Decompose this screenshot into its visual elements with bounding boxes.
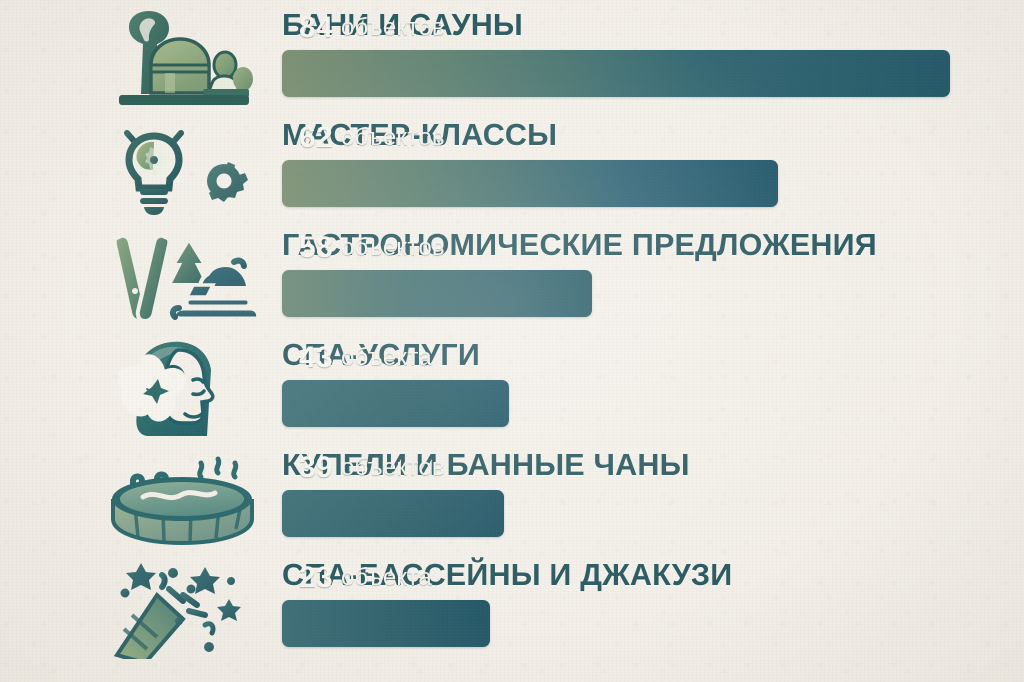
bar-value: 58 bbox=[299, 231, 333, 265]
bar-label: 84 объектов bbox=[299, 4, 445, 51]
infographic-chart: БАНИ И САУНЫ 84 объектов bbox=[0, 0, 1024, 682]
value-bar bbox=[282, 600, 490, 647]
value-bar bbox=[282, 160, 778, 207]
bar-label: 58 объектов bbox=[299, 224, 445, 271]
bar-unit: объекта bbox=[341, 564, 432, 592]
lightbulb-gear-icon bbox=[96, 116, 268, 222]
value-bar bbox=[282, 270, 592, 317]
bar-label: 62 объектов bbox=[299, 114, 445, 161]
bar-unit: объектов bbox=[341, 234, 445, 262]
party-popper-icon bbox=[96, 556, 268, 662]
bar-unit: объектов bbox=[341, 454, 445, 482]
chart-row: КУПЕЛИ И БАННЫЕ ЧАНЫ 39 объектов bbox=[0, 444, 1024, 554]
bar-label: 23 объекта bbox=[299, 554, 432, 601]
value-bar bbox=[282, 50, 950, 97]
sauna-hut-icon bbox=[96, 6, 268, 112]
hot-tub-icon bbox=[96, 446, 268, 552]
bar-value: 62 bbox=[299, 121, 333, 155]
chart-row: МАСТЕР-КЛАССЫ 62 объектов bbox=[0, 114, 1024, 224]
bar-value: 84 bbox=[299, 11, 333, 45]
bar-value: 39 bbox=[299, 451, 333, 485]
bar-label: 43 объекта bbox=[299, 334, 432, 381]
bar-value: 43 bbox=[299, 341, 333, 375]
value-bar bbox=[282, 380, 509, 427]
spa-face-flower-icon bbox=[96, 336, 268, 442]
chart-row: СПА-БАССЕЙНЫ И ДЖАКУЗИ 23 объекта bbox=[0, 554, 1024, 664]
value-bar bbox=[282, 490, 504, 537]
bar-unit: объектов bbox=[341, 124, 445, 152]
bar-unit: объекта bbox=[341, 344, 432, 372]
chart-row: ГАСТРОНОМИЧЕСКИЕ ПРЕДЛОЖЕНИЯ 58 объектов bbox=[0, 224, 1024, 334]
bar-label: 39 объектов bbox=[299, 444, 445, 491]
bar-value: 23 bbox=[299, 561, 333, 595]
chart-row: БАНИ И САУНЫ 84 объектов bbox=[0, 4, 1024, 114]
skis-snowmobile-icon bbox=[96, 226, 268, 332]
chart-row: СПА-УСЛУГИ 43 объекта bbox=[0, 334, 1024, 444]
bar-unit: объектов bbox=[341, 14, 445, 42]
